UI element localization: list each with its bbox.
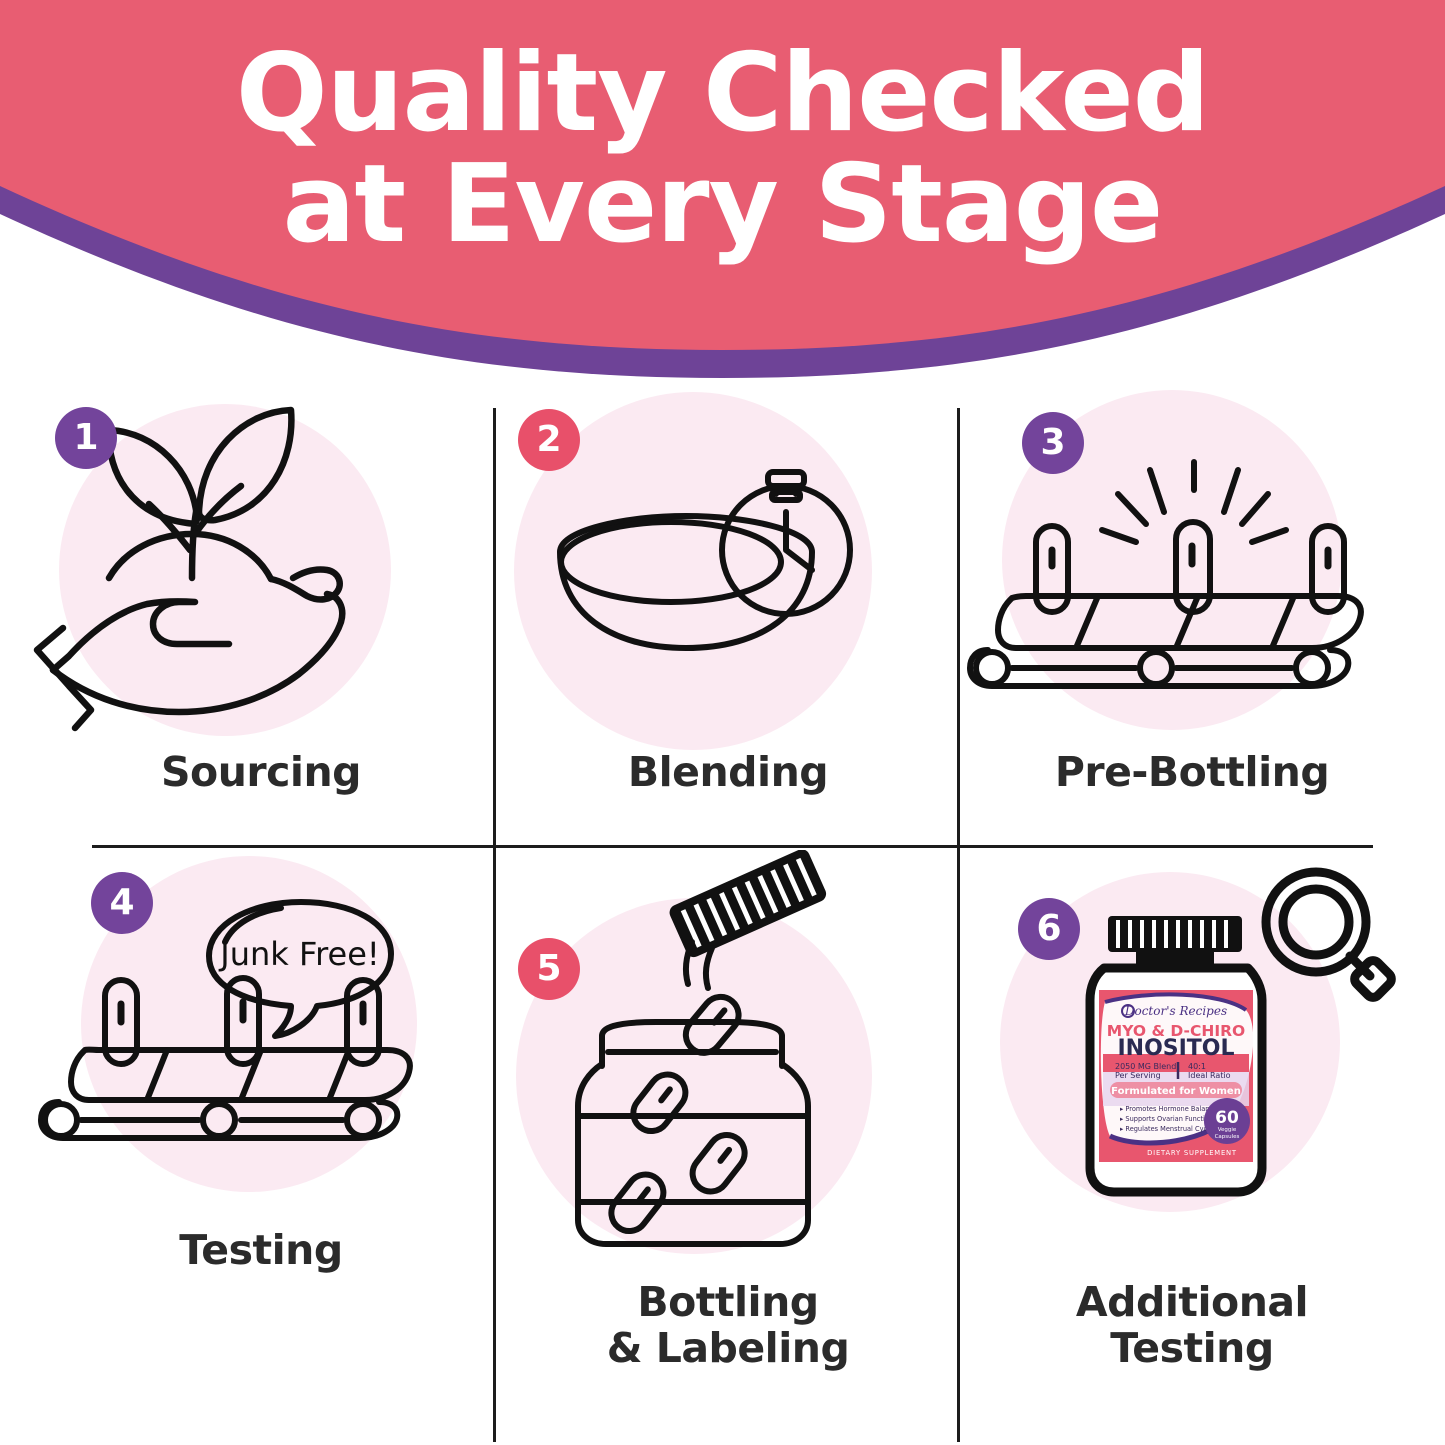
step-caption-line-2: Testing: [960, 1326, 1424, 1372]
label-brand: Doctor's Recipes: [1124, 1004, 1227, 1018]
step-caption: Sourcing: [29, 750, 493, 796]
label-spec-right-2: Ideal Ratio: [1188, 1071, 1231, 1080]
step-card-bottling-labeling[interactable]: 5: [496, 850, 960, 1445]
step-number-badge: 3: [1022, 412, 1084, 474]
step-caption: Bottling & Labeling: [496, 1280, 960, 1372]
step-card-pre-bottling[interactable]: 3: [960, 382, 1424, 845]
label-count-line-1: Veggie: [1218, 1127, 1237, 1133]
step-5-illustration: 5: [496, 850, 960, 1220]
label-name-2: INOSITOL: [1117, 1036, 1234, 1061]
step-1-illustration: 1: [29, 382, 493, 752]
step-card-sourcing[interactable]: 1: [29, 382, 493, 845]
step-card-additional-testing[interactable]: 6: [960, 850, 1424, 1445]
label-spec-left-1: 2050 MG Blend: [1115, 1062, 1176, 1071]
step-4-illustration: 4: [29, 850, 493, 1220]
header-banner: Quality Checked at Every Stage: [0, 0, 1445, 380]
label-count-number: 60: [1215, 1108, 1239, 1128]
steps-grid: 1: [0, 382, 1445, 1445]
step-number-badge: 5: [518, 938, 580, 1000]
step-caption: Blending: [496, 750, 960, 796]
step-caption-line-1: Additional: [960, 1280, 1424, 1326]
label-spec-left-2: Per Serving: [1115, 1071, 1161, 1080]
speech-bubble-text: Junk Free!: [218, 935, 379, 973]
page-title: Quality Checked at Every Stage: [0, 38, 1445, 260]
step-caption: Pre-Bottling: [960, 750, 1424, 796]
step-caption-line-2: & Labeling: [496, 1326, 960, 1372]
page-title-line-1: Quality Checked: [236, 31, 1209, 156]
step-caption-line-1: Bottling: [496, 1280, 960, 1326]
step-6-illustration: 6: [960, 850, 1424, 1220]
grid-divider-horizontal: [92, 845, 1373, 848]
label-formulated-banner: Formulated for Women: [1111, 1086, 1241, 1097]
step-caption: Additional Testing: [960, 1280, 1424, 1372]
step-number-badge: 1: [55, 407, 117, 469]
label-footer: DIETARY SUPPLEMENT: [1147, 1149, 1237, 1157]
label-spec-right-1: 40:1: [1188, 1062, 1206, 1071]
step-number-badge: 2: [518, 409, 580, 471]
step-3-illustration: 3: [960, 382, 1424, 752]
jar-filling-capsules-icon: [496, 850, 960, 1262]
step-card-blending[interactable]: 2 Blending: [496, 382, 960, 845]
step-caption: Testing: [29, 1228, 493, 1274]
step-number-badge: 4: [91, 872, 153, 934]
step-number-badge: 6: [1018, 898, 1080, 960]
step-card-testing[interactable]: 4: [29, 850, 493, 1445]
bottle-label: Doctor's Recipes MYO & D-CHIRO INOSITOL …: [1099, 990, 1253, 1162]
page-title-line-2: at Every Stage: [0, 149, 1445, 260]
step-2-illustration: 2: [496, 382, 960, 752]
label-bullet-2: ▸ Supports Ovarian Function*: [1120, 1115, 1217, 1123]
label-count-line-2: Capsules: [1215, 1134, 1240, 1140]
